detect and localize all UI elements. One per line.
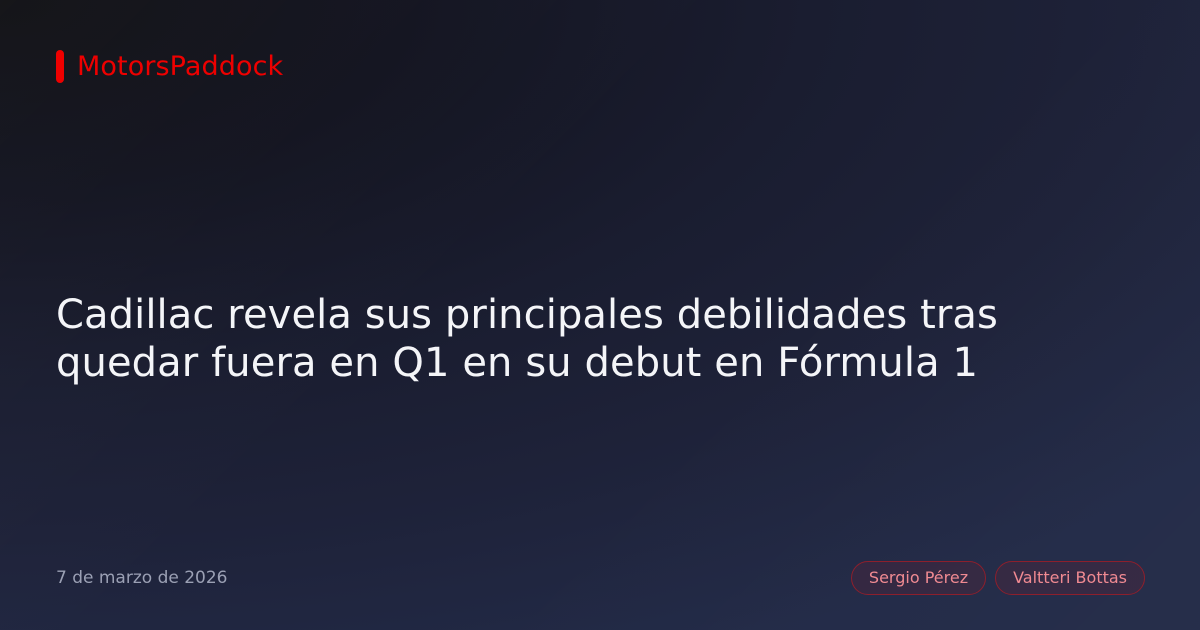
share-card: MotorsPaddock Cadillac revela sus princi… [0, 0, 1200, 630]
tag-chip[interactable]: Sergio Pérez [851, 561, 986, 595]
page-title: Cadillac revela sus principales debilida… [56, 291, 1146, 387]
tag-list: Sergio Pérez Valtteri Bottas [851, 561, 1145, 595]
card-footer: 7 de marzo de 2026 Sergio Pérez Valtteri… [56, 562, 1145, 594]
brand-bar-icon [56, 50, 64, 83]
tag-chip[interactable]: Valtteri Bottas [995, 561, 1145, 595]
brand-name: MotorsPaddock [77, 53, 283, 80]
brand-logo[interactable]: MotorsPaddock [56, 50, 283, 83]
publish-date: 7 de marzo de 2026 [56, 570, 228, 587]
